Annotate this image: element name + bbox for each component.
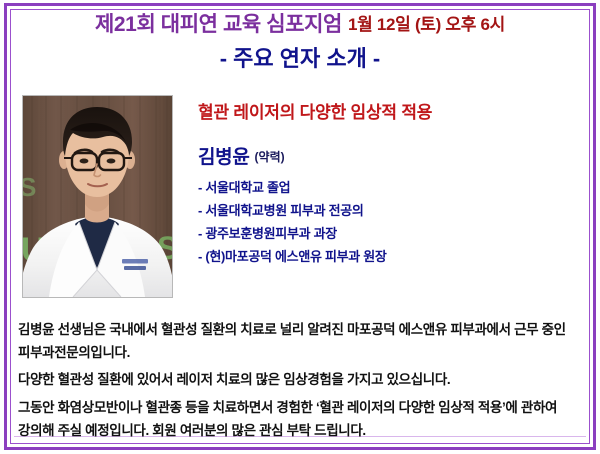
speaker-photo: U S S bbox=[22, 95, 173, 298]
lecture-title: 혈관 레이저의 다양한 임상적 적용 bbox=[198, 103, 588, 123]
list-item: - 서울대학교병원 피부과 전공의 bbox=[198, 204, 588, 217]
list-item: - 광주보훈병원피부과 과장 bbox=[198, 227, 588, 240]
list-item: - (현)마포공덕 에스앤유 피부과 원장 bbox=[198, 250, 588, 263]
speaker-name: 김병윤 bbox=[198, 147, 250, 168]
speaker-bio-list: - 서울대학교 졸업 - 서울대학교병원 피부과 전공의 - 광주보훈병원피부과… bbox=[198, 181, 588, 263]
symposium-datetime: 1월 12일 (토) 오후 6시 bbox=[348, 15, 505, 34]
poster-header: 제21회 대피연 교육 심포지엄1월 12일 (토) 오후 6시 - 주요 연자… bbox=[14, 13, 586, 71]
speaker-portrait-illustration: U S S bbox=[23, 96, 172, 297]
description-paragraph: 다양한 혈관성 질환에 있어서 레이저 치료의 많은 임상경험을 가지고 있으십… bbox=[18, 368, 584, 391]
description-paragraph: 그동안 화염상모반이나 혈관종 등을 치료하면서 경험한 ‘혈관 레이저의 다양… bbox=[18, 396, 584, 442]
section-subtitle: - 주요 연자 소개 - bbox=[14, 47, 586, 71]
clinic-logo-accent: S bbox=[23, 172, 36, 202]
speaker-bio-label: (약력) bbox=[255, 150, 285, 164]
speaker-name-row: 김병윤(약력) bbox=[198, 142, 588, 169]
symposium-title: 제21회 대피연 교육 심포지엄 bbox=[95, 13, 342, 36]
speaker-info-block: 혈관 레이저의 다양한 임상적 적용 김병윤(약력) - 서울대학교 졸업 - … bbox=[198, 103, 588, 273]
poster-root: 제21회 대피연 교육 심포지엄1월 12일 (토) 오후 6시 - 주요 연자… bbox=[0, 0, 600, 454]
list-item: - 서울대학교 졸업 bbox=[198, 181, 588, 194]
speaker-description: 김병윤 선생님은 국내에서 혈관성 질환의 치료로 널리 알려진 마포공덕 에스… bbox=[18, 318, 584, 446]
description-paragraph: 김병윤 선생님은 국내에서 혈관성 질환의 치료로 널리 알려진 마포공덕 에스… bbox=[18, 318, 584, 364]
symposium-title-line: 제21회 대피연 교육 심포지엄1월 12일 (토) 오후 6시 bbox=[14, 13, 586, 36]
